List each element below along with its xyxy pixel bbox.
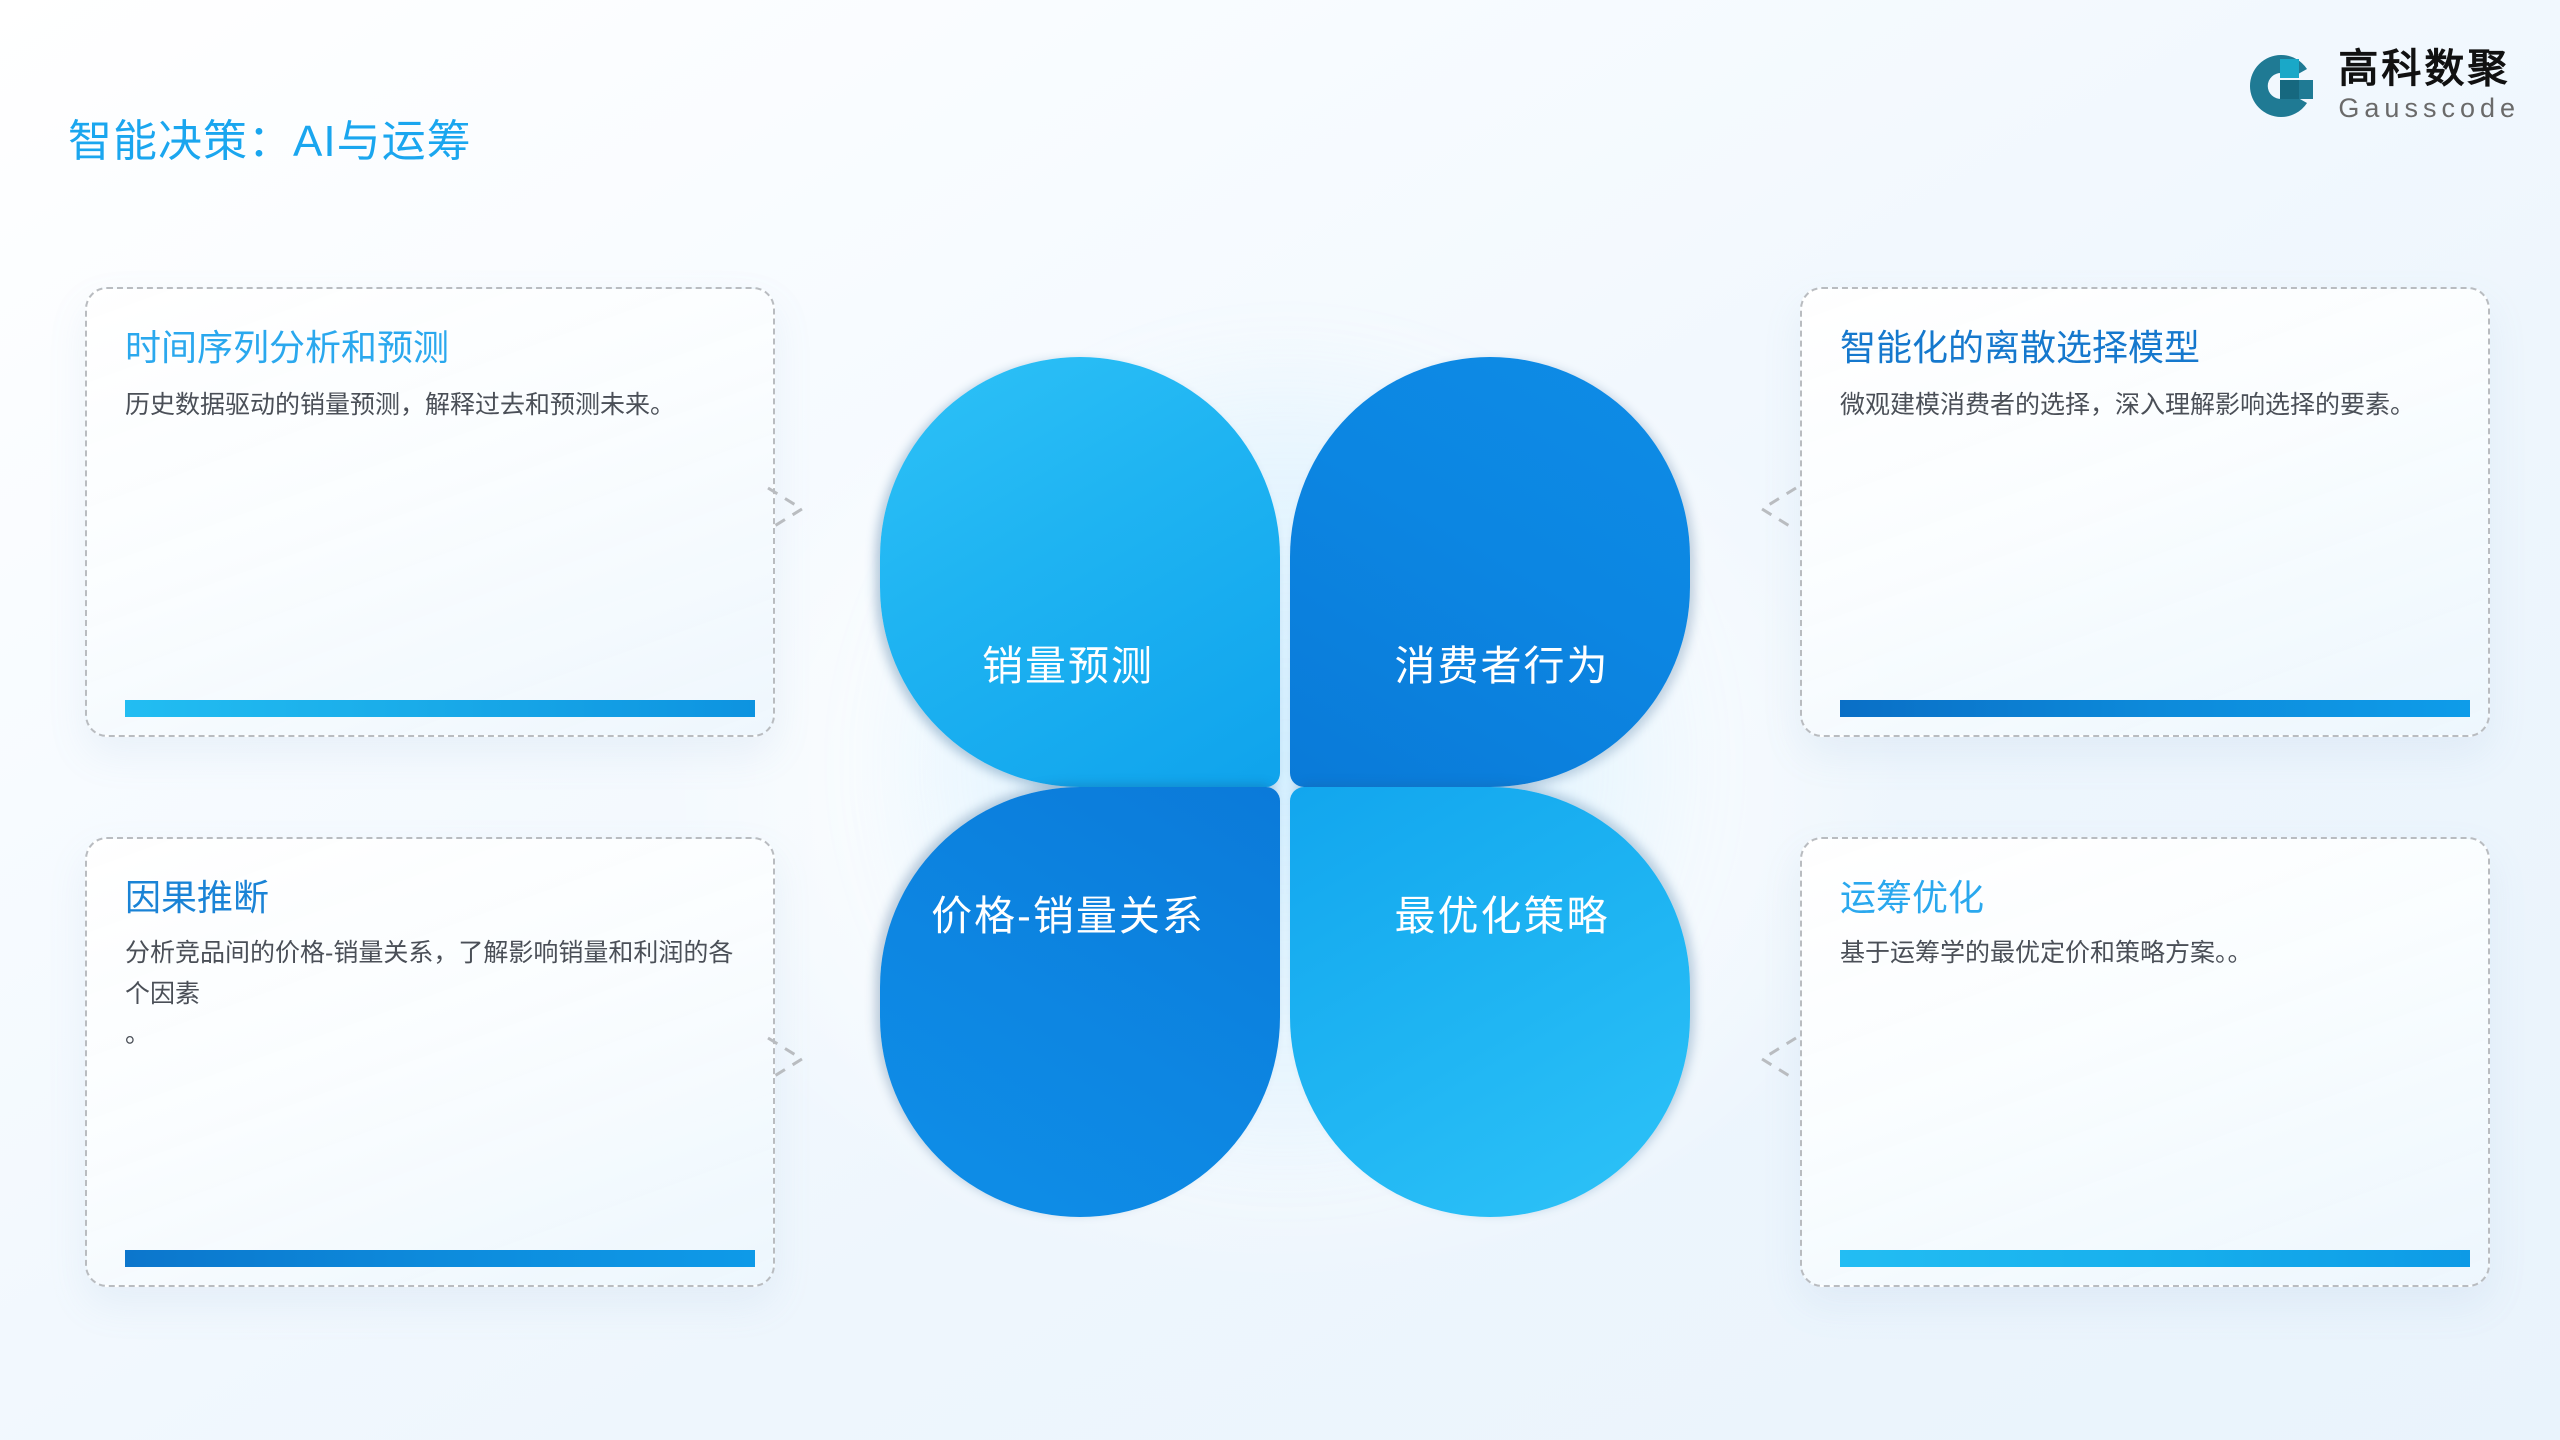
petal-price-sales-relation[interactable]: 价格-销量关系	[880, 787, 1280, 1217]
page-title: 智能决策：AI与运筹	[68, 105, 472, 169]
petal-label: 销量预测	[982, 632, 1154, 692]
logo-name-en: Gausscode	[2338, 92, 2520, 124]
logo-text: 高科数聚 Gausscode	[2338, 48, 2520, 124]
card-accent-bar	[1840, 700, 2470, 717]
card-body: 历史数据驱动的销量预测，解释过去和预测未来。	[125, 385, 739, 426]
info-card-operations-research[interactable]: 运筹优化 基于运筹学的最优定价和策略方案。。	[1800, 837, 2490, 1287]
petal-label: 价格-销量关系	[931, 882, 1205, 942]
flower-diagram: 销量预测 消费者行为 价格-销量关系 最优化策略	[795, 162, 1775, 1342]
petal-label: 消费者行为	[1395, 632, 1610, 692]
card-body: 基于运筹学的最优定价和策略方案。。	[1840, 933, 2454, 974]
card-title: 智能化的离散选择模型	[1840, 319, 2200, 371]
info-card-time-series[interactable]: 时间序列分析和预测 历史数据驱动的销量预测，解释过去和预测未来。	[85, 287, 775, 737]
petal-label: 最优化策略	[1395, 882, 1610, 942]
card-title: 时间序列分析和预测	[125, 319, 449, 371]
petal-sales-forecast[interactable]: 销量预测	[880, 357, 1280, 787]
gausscode-logo-icon	[2244, 49, 2318, 123]
petal-optimization-strategy[interactable]: 最优化策略	[1290, 787, 1690, 1217]
card-title: 运筹优化	[1840, 869, 1984, 921]
logo-name-cn: 高科数聚	[2338, 48, 2520, 90]
card-accent-bar	[125, 700, 755, 717]
card-body: 微观建模消费者的选择，深入理解影响选择的要素。	[1840, 385, 2454, 426]
info-card-causal-inference[interactable]: 因果推断 分析竞品间的价格-销量关系，了解影响销量和利润的各个因素 。	[85, 837, 775, 1287]
petal-consumer-behavior[interactable]: 消费者行为	[1290, 357, 1690, 787]
card-accent-bar	[1840, 1250, 2470, 1267]
card-title: 因果推断	[125, 869, 269, 921]
card-body: 分析竞品间的价格-销量关系，了解影响销量和利润的各个因素 。	[125, 933, 739, 1055]
info-card-discrete-choice[interactable]: 智能化的离散选择模型 微观建模消费者的选择，深入理解影响选择的要素。	[1800, 287, 2490, 737]
brand-logo: 高科数聚 Gausscode	[2244, 48, 2520, 124]
card-accent-bar	[125, 1250, 755, 1267]
